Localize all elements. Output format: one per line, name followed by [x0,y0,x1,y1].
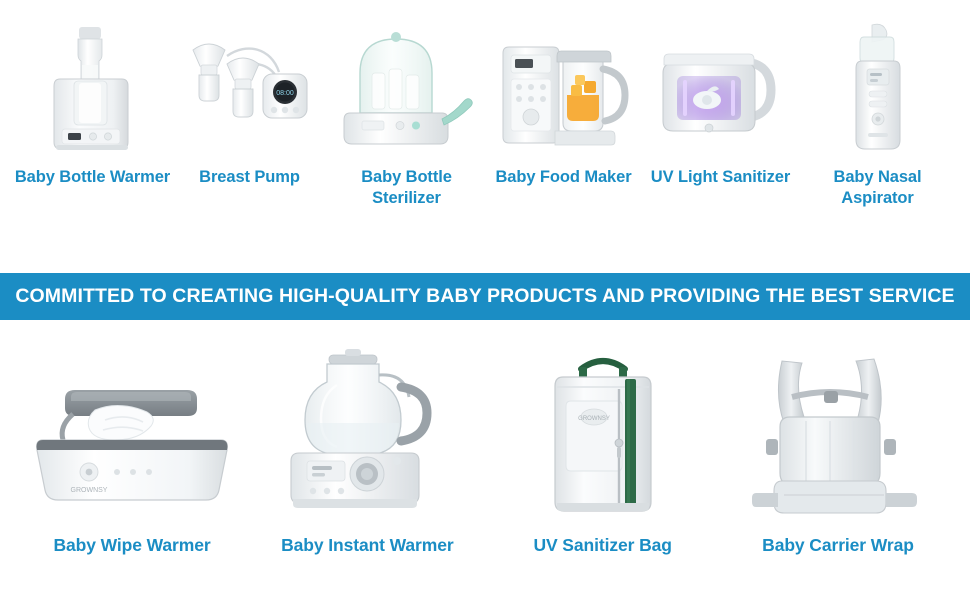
product-label: Baby Carrier Wrap [762,535,914,556]
product-label: Baby Bottle Sterilizer [328,167,485,208]
baby-nasal-aspirator-photo [799,18,956,153]
baby-wipe-warmer-photo: GROWNSY [16,338,248,523]
product-card-baby-nasal-aspirator[interactable]: Baby Nasal Aspirator [799,18,956,265]
svg-text:08:00: 08:00 [276,90,294,97]
product-label: Baby Food Maker [495,167,631,188]
breast-pump-photo: 08:00 [171,18,328,153]
product-card-baby-carrier-wrap[interactable]: Baby Carrier Wrap [722,338,954,585]
product-card-baby-bottle-sterilizer[interactable]: Baby Bottle Sterilizer [328,18,485,265]
product-card-breast-pump[interactable]: 08:00 Breast Pump [171,18,328,265]
svg-text:GROWNSY: GROWNSY [70,487,107,494]
product-label: UV Light Sanitizer [651,167,790,188]
baby-bottle-warmer-photo [14,18,171,153]
product-label: Baby Wipe Warmer [53,535,210,556]
product-label: Breast Pump [199,167,300,188]
banner-text: COMMITTED TO CREATING HIGH-QUALITY BABY … [15,285,954,308]
product-card-uv-light-sanitizer[interactable]: UV Light Sanitizer [642,18,799,265]
product-label: Baby Nasal Aspirator [799,167,956,208]
product-label: Baby Bottle Warmer [15,167,170,188]
promo-banner: COMMITTED TO CREATING HIGH-QUALITY BABY … [0,273,970,320]
product-label: UV Sanitizer Bag [533,535,671,556]
baby-carrier-wrap-photo [722,338,954,523]
product-card-baby-wipe-warmer[interactable]: GROWNSY Baby Wipe Warmer [16,338,248,585]
bottom-product-row: GROWNSY Baby Wipe Warmer [0,330,970,585]
baby-food-maker-photo [485,18,642,153]
product-card-baby-food-maker[interactable]: Baby Food Maker [485,18,642,265]
top-product-row: Baby Bottle Warmer [0,0,970,265]
uv-sanitizer-bag-photo: GROWNSY [487,338,719,523]
product-card-uv-sanitizer-bag[interactable]: GROWNSY UV Sanitizer Bag [487,338,719,585]
baby-instant-warmer-photo [251,338,483,523]
product-card-baby-instant-warmer[interactable]: Baby Instant Warmer [251,338,483,585]
product-label: Baby Instant Warmer [281,535,454,556]
product-card-baby-bottle-warmer[interactable]: Baby Bottle Warmer [14,18,171,265]
product-showcase-page: Baby Bottle Warmer [0,0,970,600]
svg-text:GROWNSY: GROWNSY [578,416,610,422]
uv-light-sanitizer-photo [642,18,799,153]
baby-bottle-sterilizer-photo [328,18,485,153]
